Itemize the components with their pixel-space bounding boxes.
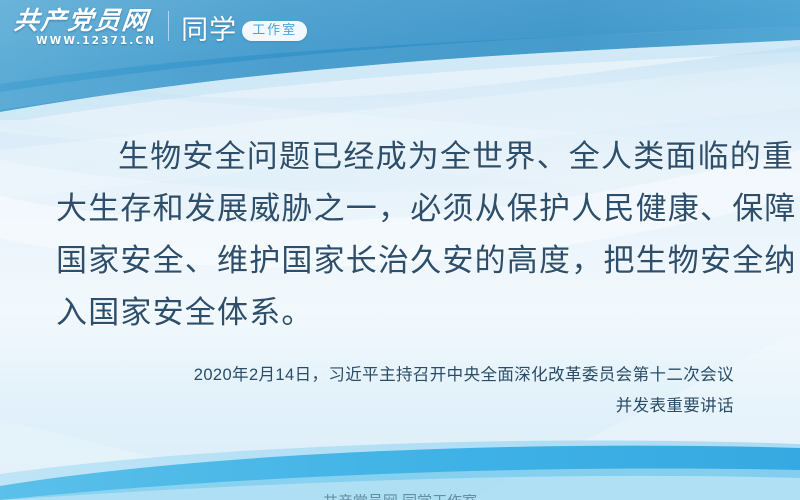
footer-clipped-text: 共产党员网 同学工作室 — [0, 494, 800, 500]
quote-line: 入国家安全体系。 — [56, 287, 746, 339]
logo-brand-text: 共产党员网 — [13, 8, 151, 34]
poster-canvas: 共产党员网 WWW.12371.CN 同学 工作室 生物安全问题已经成为全世界、… — [0, 0, 800, 500]
attribution-line: 2020年2月14日，习近平主持召开中央全面深化改革委员会第十二次会议 — [56, 360, 734, 391]
logo-sub-brand[interactable]: 同学 工作室 — [181, 17, 307, 44]
logo-url-text: WWW.12371.CN — [36, 35, 156, 47]
attribution-line: 并发表重要讲话 — [56, 391, 734, 422]
quote-line: 大生存和发展威胁之一，必须从保护人民健康、保障 — [56, 183, 746, 235]
quote-line: 生物安全问题已经成为全世界、全人类面临的重 — [56, 131, 746, 183]
logo-studio-badge: 工作室 — [242, 21, 307, 41]
quote-text: 生物安全问题已经成为全世界、全人类面临的重 大生存和发展威胁之一，必须从保护人民… — [56, 131, 746, 339]
logo-sub-brand-text: 同学 — [181, 17, 237, 44]
site-logo[interactable]: 共产党员网 WWW.12371.CN 同学 工作室 — [14, 8, 307, 47]
quote-line: 国家安全、维护国家长治久安的高度，把生物安全纳 — [56, 235, 746, 287]
quote-attribution: 2020年2月14日，习近平主持召开中央全面深化改革委员会第十二次会议 并发表重… — [56, 360, 734, 422]
logo-divider — [168, 11, 169, 41]
footer-clipped-label: 共产党员网 同学工作室 — [0, 494, 800, 500]
logo-primary[interactable]: 共产党员网 WWW.12371.CN — [14, 8, 156, 47]
